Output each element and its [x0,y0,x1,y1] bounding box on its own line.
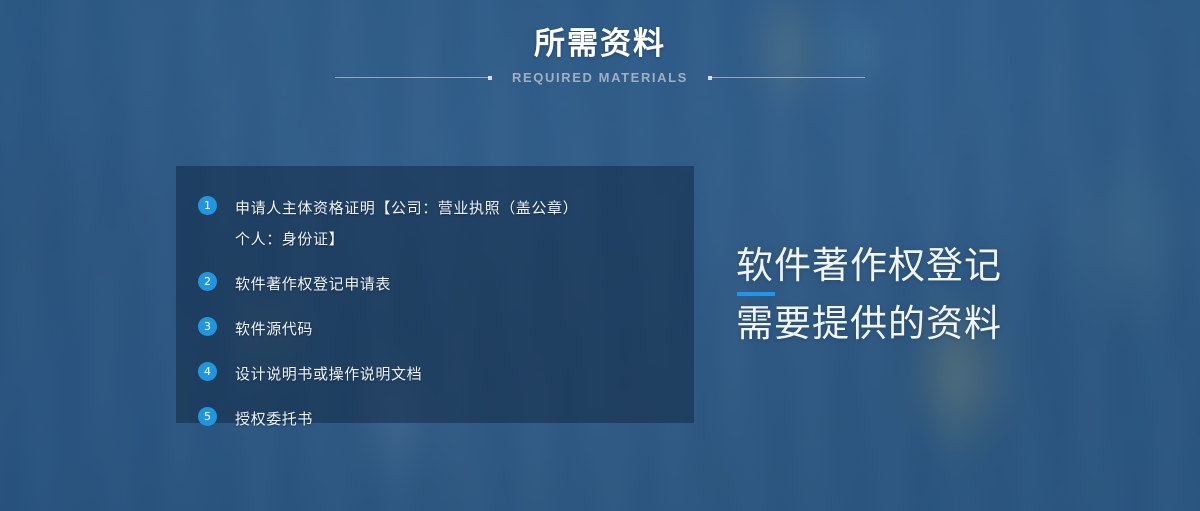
headline-line-2: 需要提供的资料 [736,301,1002,346]
header: 所需资料 REQUIRED MATERIALS [0,24,1200,85]
item-number-badge: 1 [198,196,217,215]
item-number-badge: 2 [198,272,217,291]
item-text: 设计说明书或操作说明文档 [235,359,422,390]
list-item: 5 授权委托书 [198,404,694,435]
headline-accent-bar [737,292,775,296]
item-text: 软件源代码 [235,314,313,345]
list-item: 2 软件著作权登记申请表 [198,269,694,300]
page-subtitle: REQUIRED MATERIALS [490,70,710,85]
item-text: 授权委托书 [235,404,313,435]
required-materials-panel: 1 申请人主体资格证明【公司：营业执照（盖公章） 个人：身份证】 2 软件著作权… [176,166,694,423]
list-item: 3 软件源代码 [198,314,694,345]
subtitle-row: REQUIRED MATERIALS [0,70,1200,85]
item-text: 申请人主体资格证明【公司：营业执照（盖公章） 个人：身份证】 [235,193,578,255]
item-text: 软件著作权登记申请表 [235,269,391,300]
materials-list: 1 申请人主体资格证明【公司：营业执照（盖公章） 个人：身份证】 2 软件著作权… [176,166,694,435]
list-item: 4 设计说明书或操作说明文档 [198,359,694,390]
list-item: 1 申请人主体资格证明【公司：营业执照（盖公章） 个人：身份证】 [198,193,694,255]
banner-stage: 所需资料 REQUIRED MATERIALS 1 申请人主体资格证明【公司：营… [0,0,1200,511]
divider-line-right [710,77,865,78]
headline-line-1: 软件著作权登记 [736,243,1002,288]
divider-line-left [335,77,490,78]
page-title: 所需资料 [0,24,1200,64]
item-number-badge: 3 [198,317,217,336]
item-number-badge: 5 [198,407,217,426]
headline-block: 软件著作权登记 需要提供的资料 [736,243,1002,346]
item-number-badge: 4 [198,362,217,381]
